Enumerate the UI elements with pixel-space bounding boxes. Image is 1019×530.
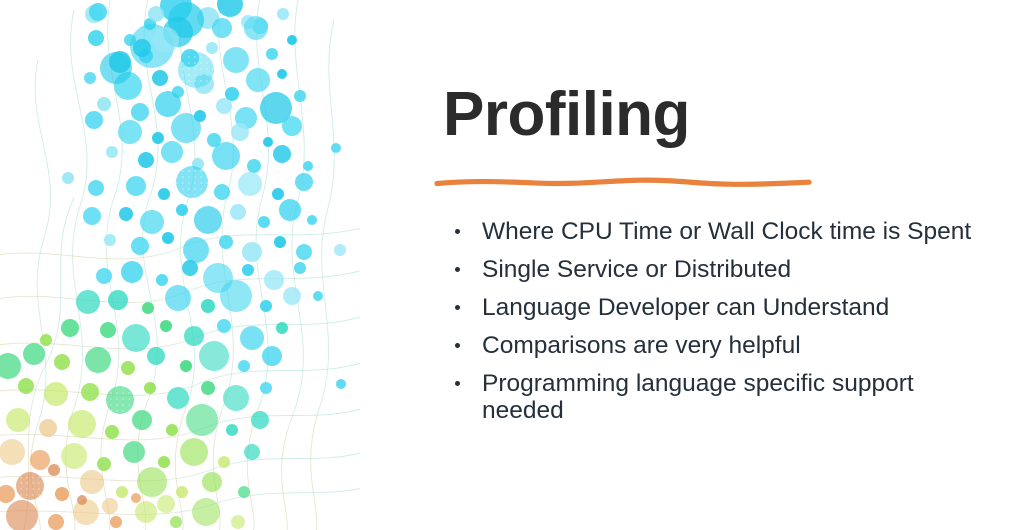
list-item: Single Service or Distributed	[453, 256, 998, 283]
list-item-label: Where CPU Time or Wall Clock time is Spe…	[482, 218, 971, 245]
list-item-label: Programming language specific support ne…	[482, 370, 914, 424]
bullet-point-icon	[455, 343, 460, 348]
list-item: Where CPU Time or Wall Clock time is Spe…	[453, 218, 998, 245]
list-item: Language Developer can Understand	[453, 294, 998, 321]
gradient-dot-network-graphic	[0, 0, 360, 530]
list-item-label: Comparisons are very helpful	[482, 332, 801, 359]
bullet-point-icon	[455, 229, 460, 234]
bullet-list: Where CPU Time or Wall Clock time is Spe…	[453, 218, 998, 424]
slide-canvas: Profiling Where CPU Time or Wall Clock t…	[0, 0, 1019, 530]
list-item-label: Language Developer can Understand	[482, 294, 889, 321]
bullet-point-icon	[455, 381, 460, 386]
page-title: Profiling	[443, 82, 690, 149]
bullet-point-icon	[455, 305, 460, 310]
bullet-point-icon	[455, 267, 460, 272]
orange-wavy-underline	[433, 172, 813, 192]
list-item-label: Single Service or Distributed	[482, 256, 791, 283]
list-item: Comparisons are very helpful	[453, 332, 998, 359]
list-item: Programming language specific support ne…	[453, 370, 998, 424]
slide-content: Profiling Where CPU Time or Wall Clock t…	[443, 0, 1003, 530]
